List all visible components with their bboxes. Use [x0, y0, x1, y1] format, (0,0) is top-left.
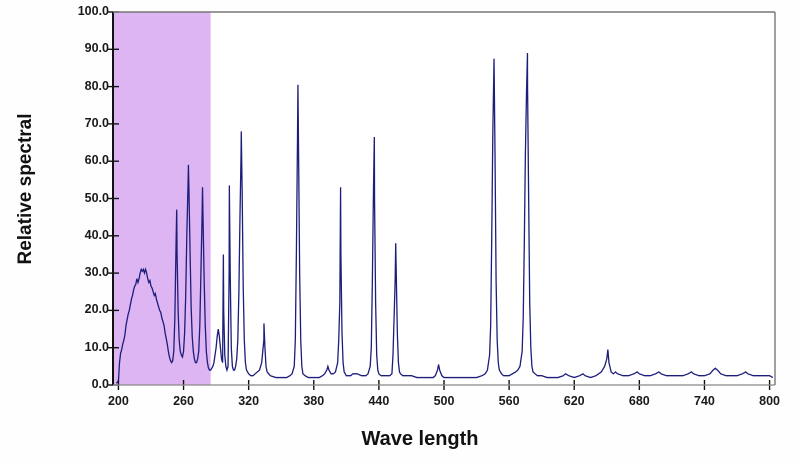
uv-shaded-region: [113, 12, 211, 385]
spectrum-plot: [0, 0, 800, 462]
hg-spectrum-figure: Relative spectral Wave length Hg-Spectru…: [0, 0, 800, 462]
plot-background: [113, 12, 775, 385]
